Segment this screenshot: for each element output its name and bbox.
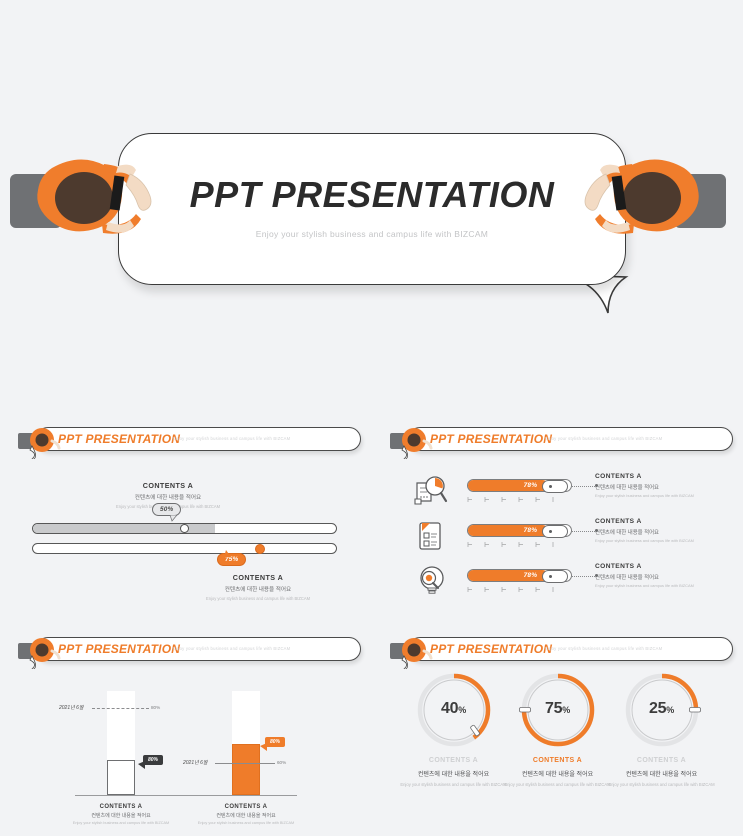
- badge-pointer-bottom: [224, 550, 232, 557]
- contents-korean: 컨텐츠에 대한 내용을 적어요: [88, 493, 248, 501]
- slide-header-subtitle: Enjoy your stylish business and campus l…: [173, 436, 290, 441]
- chart-baseline-axis: [75, 795, 297, 796]
- hero-section: PPT PRESENTATION Enjoy your stylish busi…: [0, 0, 743, 400]
- progress-row-text: CONTENTS A 컨텐츠에 대한 내용을 적어요 Enjoy your st…: [595, 473, 730, 498]
- slider-knob-bottom[interactable]: [255, 544, 265, 554]
- hero-subtitle: Enjoy your stylish business and campus l…: [119, 229, 625, 239]
- person-badge-icon: [18, 637, 64, 669]
- bar-date-label-right: 2021년 6월: [183, 759, 208, 766]
- contents-english: Enjoy your stylish business and campus l…: [171, 821, 321, 827]
- progress-bar-value: 78%: [524, 527, 538, 534]
- donut-value: 75%: [519, 700, 597, 718]
- slider-track-top[interactable]: [32, 523, 337, 534]
- progress-ruler: [467, 496, 572, 504]
- contents-korean: 컨텐츠에 대한 내용을 적어요: [171, 812, 321, 819]
- progress-bar-value: 78%: [524, 482, 538, 489]
- donut-value: 25%: [623, 700, 701, 718]
- progress-row: 78%: [372, 473, 743, 509]
- contents-english: Enjoy your stylish business and campus l…: [595, 493, 730, 499]
- slide-thumbnail-2[interactable]: PPT PRESENTATION Enjoy your stylish busi…: [372, 415, 743, 626]
- bar-right: [232, 744, 260, 795]
- person-illustration-left: [8, 146, 158, 256]
- slide-header-title: PPT PRESENTATION: [58, 432, 180, 446]
- endcap-dot-icon: [549, 530, 552, 533]
- progress-leader-dots: [571, 531, 595, 532]
- progress-bar-track[interactable]: 78%: [467, 524, 572, 537]
- donut-chart-75: 75%: [519, 671, 597, 749]
- bar-tag-left: 80%: [143, 755, 163, 765]
- bar-value-label-left: 80%: [151, 705, 160, 710]
- contents-title: CONTENTS A: [595, 563, 730, 570]
- hero-title: PPT PRESENTATION: [119, 174, 625, 216]
- contents-english: Enjoy your stylish business and campus l…: [595, 583, 730, 589]
- bar-date-label-left: 2021년 6월: [59, 704, 84, 711]
- progress-leader-dots: [571, 576, 595, 577]
- slide-thumbnail-3[interactable]: PPT PRESENTATION Enjoy your stylish busi…: [0, 625, 371, 836]
- endcap-dot-icon: [549, 485, 552, 488]
- contents-english: Enjoy your stylish business and campus l…: [600, 782, 723, 788]
- contents-title: CONTENTS A: [595, 518, 730, 525]
- progress-row: 78%: [372, 563, 743, 599]
- bar-value-label-right: 60%: [277, 760, 286, 765]
- slider-knob-top[interactable]: [180, 524, 189, 533]
- contents-korean: 컨텐츠에 대한 내용을 적어요: [595, 528, 730, 536]
- checklist-document-icon: [414, 520, 448, 552]
- progress-ruler: [467, 541, 572, 549]
- leader-line-right: [215, 763, 275, 764]
- slider-track-bottom[interactable]: [32, 543, 337, 554]
- progress-bar-endcap[interactable]: [542, 480, 568, 493]
- bar-tag-pointer-left: [138, 761, 145, 769]
- slide-thumbnail-1[interactable]: PPT PRESENTATION Enjoy your stylish busi…: [0, 415, 371, 626]
- leader-line-left: [92, 708, 149, 709]
- bar-ghost-right: [232, 691, 260, 744]
- donut-caption: CONTENTS A 컨텐츠에 대한 내용을 적어요 Enjoy your st…: [600, 757, 723, 788]
- document-magnifier-chart-icon: [414, 475, 448, 507]
- contents-title: CONTENTS A: [88, 481, 248, 490]
- bar-tag-right: 80%: [265, 737, 285, 747]
- contents-title: CONTENTS A: [171, 804, 321, 810]
- slide-header-1: PPT PRESENTATION Enjoy your stylish busi…: [18, 427, 361, 453]
- endcap-dot-icon: [549, 575, 552, 578]
- person-badge-icon: [390, 427, 436, 459]
- contents-english: Enjoy your stylish business and campus l…: [595, 538, 730, 544]
- progress-row-text: CONTENTS A 컨텐츠에 대한 내용을 적어요 Enjoy your st…: [595, 563, 730, 588]
- bar-left: [107, 760, 135, 795]
- contents-title: CONTENTS A: [600, 757, 723, 764]
- contents-title: CONTENTS A: [178, 573, 338, 582]
- progress-bar-endcap[interactable]: [542, 525, 568, 538]
- person-illustration-right: [578, 146, 728, 256]
- progress-bar-endcap[interactable]: [542, 570, 568, 583]
- donut-chart-40: 40%: [415, 671, 493, 749]
- progress-bar-track[interactable]: 78%: [467, 569, 572, 582]
- slide-header-subtitle: Enjoy your stylish business and campus l…: [173, 646, 290, 651]
- donut-column: 25% CONTENTS A 컨텐츠에 대한 내용을 적어요 Enjoy you…: [600, 671, 723, 788]
- contents-title: CONTENTS A: [595, 473, 730, 480]
- slide-header-title: PPT PRESENTATION: [430, 432, 552, 446]
- bar-ghost-left: [107, 691, 135, 760]
- progress-leader-dots: [571, 486, 595, 487]
- slide-thumbnail-4[interactable]: PPT PRESENTATION Enjoy your stylish busi…: [372, 625, 743, 836]
- hero-speech-bubble: PPT PRESENTATION Enjoy your stylish busi…: [118, 133, 626, 285]
- slide1-bottom-text-block: CONTENTS A 컨텐츠에 대한 내용을 적어요 Enjoy your st…: [178, 573, 338, 602]
- contents-korean: 컨텐츠에 대한 내용을 적어요: [595, 573, 730, 581]
- slide-header-2: PPT PRESENTATION Enjoy your stylish busi…: [390, 427, 733, 453]
- badge-pointer-top: [170, 515, 178, 522]
- bar-chart: 2021년 6월 80% 80% 2021년 6월 60% 80% CONTEN…: [0, 671, 371, 836]
- progress-ruler: [467, 586, 572, 594]
- progress-bar-wrap: 78%: [467, 479, 572, 492]
- progress-bar-wrap: 78%: [467, 569, 572, 582]
- bar-caption-right: CONTENTS A 컨텐츠에 대한 내용을 적어요 Enjoy your st…: [171, 804, 321, 827]
- contents-korean: 컨텐츠에 대한 내용을 적어요: [595, 483, 730, 491]
- contents-korean: 컨텐츠에 대한 내용을 적어요: [600, 769, 723, 778]
- slide-header-subtitle: Enjoy your stylish business and campus l…: [545, 436, 662, 441]
- person-badge-icon: [390, 637, 436, 669]
- slide-header-title: PPT PRESENTATION: [58, 642, 180, 656]
- person-badge-icon: [18, 427, 64, 459]
- donut-chart-25: 25%: [623, 671, 701, 749]
- lightbulb-magnifier-icon: [414, 565, 448, 597]
- progress-row: 78%: [372, 518, 743, 554]
- contents-korean: 컨텐츠에 대한 내용을 적어요: [178, 585, 338, 593]
- slide-header-3: PPT PRESENTATION Enjoy your stylish busi…: [18, 637, 361, 663]
- slide-header-subtitle: Enjoy your stylish business and campus l…: [545, 646, 662, 651]
- bar-tag-pointer-right: [260, 743, 267, 751]
- progress-row-text: CONTENTS A 컨텐츠에 대한 내용을 적어요 Enjoy your st…: [595, 518, 730, 543]
- progress-bar-wrap: 78%: [467, 524, 572, 537]
- slide-header-4: PPT PRESENTATION Enjoy your stylish busi…: [390, 637, 733, 663]
- slide-header-title: PPT PRESENTATION: [430, 642, 552, 656]
- progress-bar-value: 78%: [524, 572, 538, 579]
- contents-english: Enjoy your stylish business and campus l…: [178, 596, 338, 602]
- donut-value: 40%: [415, 700, 493, 718]
- progress-bar-track[interactable]: 78%: [467, 479, 572, 492]
